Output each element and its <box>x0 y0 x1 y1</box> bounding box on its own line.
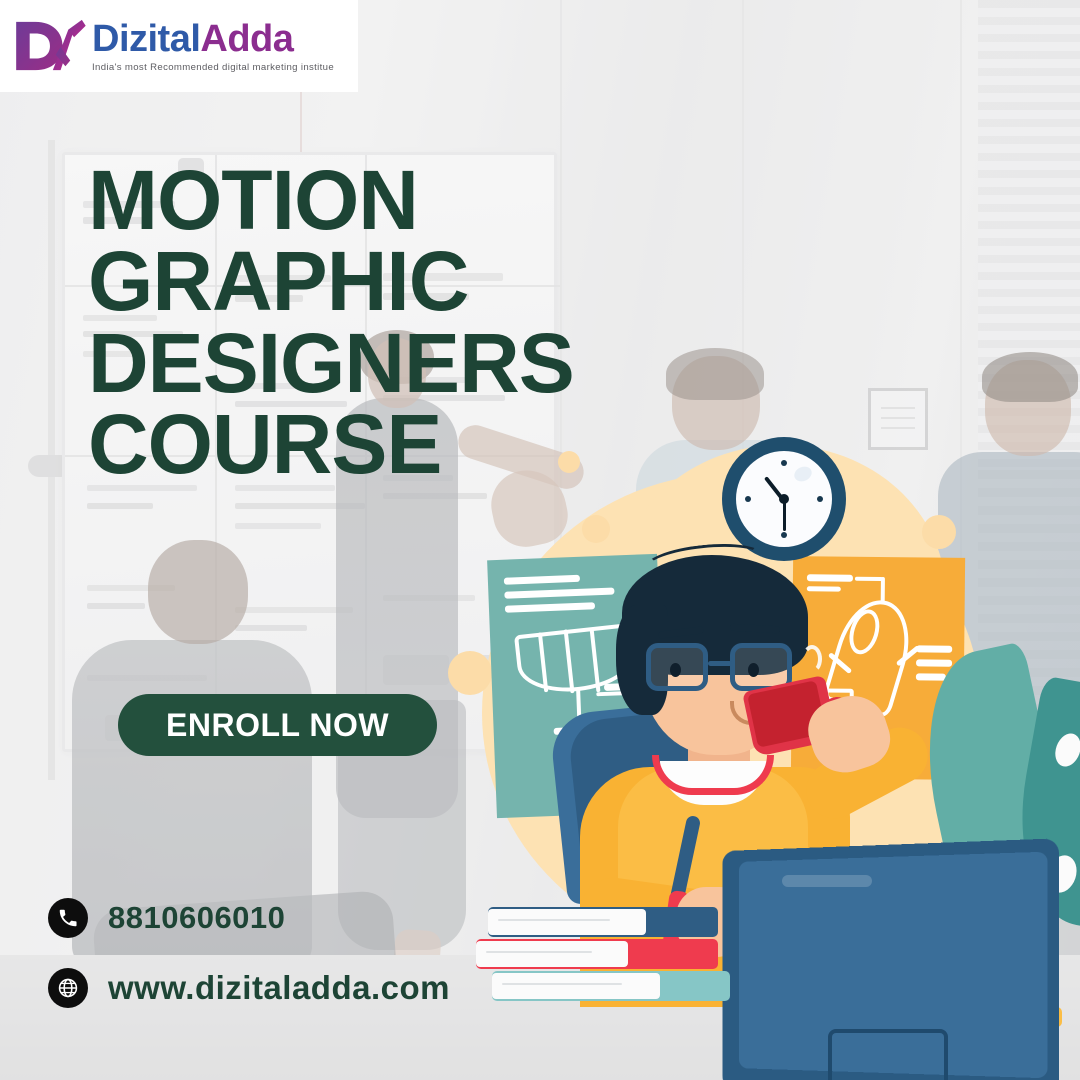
globe-icon <box>48 968 88 1008</box>
brand-name-part2: Adda <box>200 18 293 60</box>
headline-line-4: COURSE <box>88 404 708 485</box>
contact-block: 8810606010 www.dizitaladda.com <box>48 898 450 1038</box>
monitor-stand <box>828 1029 948 1080</box>
brand-name-part1: Dizital <box>92 18 200 60</box>
book-pages <box>492 973 660 999</box>
contact-website-row[interactable]: www.dizitaladda.com <box>48 968 450 1008</box>
book-pages <box>488 909 646 935</box>
book-pages <box>476 941 628 967</box>
clock-face <box>736 451 832 547</box>
enroll-now-button[interactable]: ENROLL NOW <box>118 694 437 756</box>
da-monogram-icon <box>10 18 88 74</box>
designer-illustration <box>430 415 1080 1035</box>
deco-dot <box>448 651 492 695</box>
headline-line-1: MOTION <box>88 160 708 241</box>
headline-line-3: DESIGNERS <box>88 323 708 404</box>
contact-phone-row[interactable]: 8810606010 <box>48 898 450 938</box>
designer-eye <box>670 663 681 677</box>
phone-number: 8810606010 <box>108 900 285 936</box>
brand-wordmark: DizitalAdda India's most Recommended dig… <box>92 20 334 73</box>
brand-tagline: India's most Recommended digital marketi… <box>92 63 334 73</box>
steam-swirl <box>802 645 822 673</box>
headline-line-2: GRAPHIC <box>88 241 708 322</box>
monitor-glare <box>782 875 872 887</box>
phone-icon <box>48 898 88 938</box>
website-url: www.dizitaladda.com <box>108 969 450 1007</box>
brand-logo-card[interactable]: DizitalAdda India's most Recommended dig… <box>0 0 358 92</box>
deco-dot <box>582 515 610 543</box>
promo-poster: DizitalAdda India's most Recommended dig… <box>0 0 1080 1080</box>
designer-eye <box>748 663 759 677</box>
page-title: MOTION GRAPHIC DESIGNERS COURSE <box>88 160 708 486</box>
deco-dot <box>922 515 956 549</box>
